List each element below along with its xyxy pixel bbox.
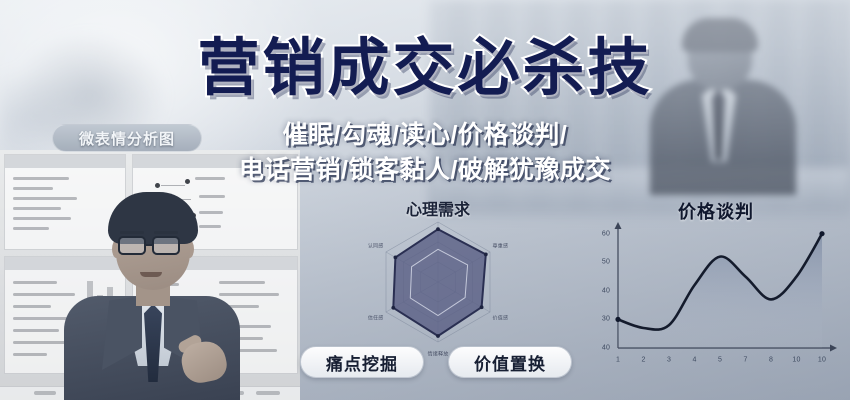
line-y-tick-label: 30 xyxy=(602,316,610,323)
radar-chart: 心理需求 安全尊重感价值感情绪释放信任感认同感 xyxy=(330,196,546,364)
line-x-tick-label: 10 xyxy=(792,357,800,364)
line-x-tick-label: 7 xyxy=(743,357,747,364)
radar-axis-label: 尊重感 xyxy=(493,243,509,250)
line-x-tick-label: 10 xyxy=(818,357,826,364)
line-x-tick-label: 4 xyxy=(692,357,696,364)
radar-axis-label: 安全 xyxy=(433,207,443,214)
line-y-tick-label: 50 xyxy=(602,259,610,266)
subtitle-line-2: 电话营销/锁客黏人/破解犹豫成交 xyxy=(0,153,850,188)
line-chart-svg xyxy=(592,222,840,380)
line-y-tick-label: 40 xyxy=(602,287,610,294)
page-title: 营销成交必杀技 xyxy=(0,38,850,100)
line-x-tick-label: 3 xyxy=(667,357,671,364)
radar-axis-label: 信任感 xyxy=(368,315,384,322)
tag-value-exchange[interactable]: 价值置换 xyxy=(448,346,572,378)
subtitle-block: 催眠/勾魂/读心/价格谈判/ 电话营销/锁客黏人/破解犹豫成交 xyxy=(0,118,850,187)
radar-axis-label: 认同感 xyxy=(368,243,384,250)
line-chart: 价格谈判 123457810106050403040 xyxy=(592,198,840,382)
poster-canvas: 微表情分析图 营销成交必杀技 催眠/勾魂/读心/价格谈判/ 电话营销/锁客黏人/… xyxy=(0,0,850,400)
line-x-tick-label: 1 xyxy=(616,357,620,364)
line-x-tick-label: 5 xyxy=(718,357,722,364)
subtitle-line-1: 催眠/勾魂/读心/价格谈判/ xyxy=(0,118,850,153)
presenter-person xyxy=(62,192,242,400)
line-chart-title: 价格谈判 xyxy=(592,198,840,224)
radar-chart-svg xyxy=(344,214,532,356)
radar-axis-label: 情绪释放 xyxy=(428,351,449,358)
tag-pain-point[interactable]: 痛点挖掘 xyxy=(300,346,424,378)
line-x-tick-label: 2 xyxy=(641,357,645,364)
radar-axis-label: 价值感 xyxy=(493,315,509,322)
line-x-tick-label: 8 xyxy=(769,357,773,364)
line-y-tick-label: 60 xyxy=(602,230,610,237)
line-y-tick-label: 40 xyxy=(602,345,610,352)
